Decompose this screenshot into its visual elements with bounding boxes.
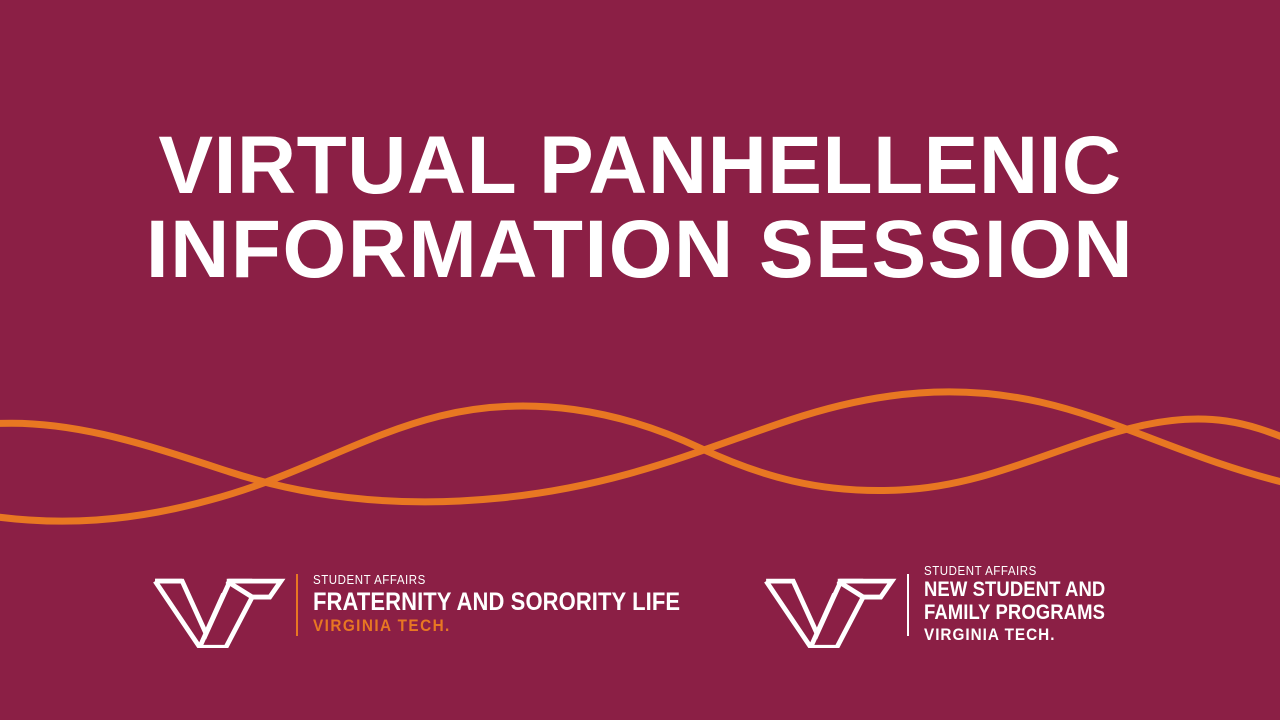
title-line-1: VIRTUAL PANHELLENIC — [0, 126, 1280, 206]
orange-double-wave-icon — [0, 380, 1280, 550]
title-line-2: INFORMATION SESSION — [0, 210, 1280, 290]
lockup-unit-name-line-1: NEW STUDENT AND — [924, 579, 1105, 601]
lockup-divider — [296, 574, 298, 636]
lockup-new-student-and-family-programs: STUDENT AFFAIRS NEW STUDENT AND FAMILY P… — [761, 560, 1130, 648]
lockup-fraternity-and-sorority-life: STUDENT AFFAIRS FRATERNITY AND SORORITY … — [150, 560, 730, 648]
lockup-university: VIRGINIA TECH. — [924, 626, 1109, 644]
slide-title: VIRTUAL PANHELLENIC INFORMATION SESSION — [0, 126, 1280, 291]
lockup-text: STUDENT AFFAIRS FRATERNITY AND SORORITY … — [313, 573, 730, 634]
vt-logo-icon — [150, 570, 286, 648]
lockup-divider — [907, 574, 909, 636]
presentation-slide: VIRTUAL PANHELLENIC INFORMATION SESSION — [0, 0, 1280, 720]
vt-logo-icon — [761, 570, 897, 648]
lockup-eyebrow: STUDENT AFFAIRS — [924, 564, 1114, 578]
lockup-text: STUDENT AFFAIRS NEW STUDENT AND FAMILY P… — [924, 564, 1130, 644]
lockup-eyebrow: STUDENT AFFAIRS — [313, 573, 697, 587]
wave-decoration — [0, 380, 1280, 550]
footer-logo-lockups: STUDENT AFFAIRS FRATERNITY AND SORORITY … — [0, 560, 1280, 670]
lockup-unit-name: FRATERNITY AND SORORITY LIFE — [313, 589, 680, 615]
lockup-university: VIRGINIA TECH. — [313, 617, 688, 635]
lockup-unit-name-line-2: FAMILY PROGRAMS — [924, 602, 1105, 624]
